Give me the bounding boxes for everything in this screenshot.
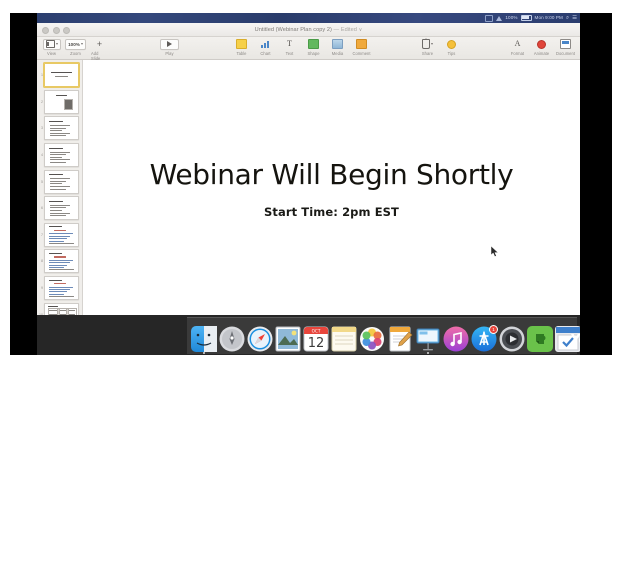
- view-icon: [46, 40, 55, 48]
- menubar-clock[interactable]: Mon 9:00 PM: [535, 13, 563, 23]
- navigator-slide-6[interactable]: 6: [37, 195, 82, 222]
- toolbar-play-group: Play: [161, 39, 178, 56]
- app-store-icon[interactable]: 1: [471, 326, 497, 352]
- share-icon: [422, 39, 430, 49]
- animate-label: Animate: [534, 51, 549, 56]
- comment-button[interactable]: Comment: [353, 39, 370, 56]
- table-icon: [236, 39, 247, 49]
- comment-icon: [356, 39, 367, 49]
- play-icon: [167, 41, 172, 47]
- youtube-you-text: You: [571, 333, 580, 348]
- svg-text:OCT: OCT: [312, 328, 321, 333]
- slide-thumbnail[interactable]: [44, 116, 79, 140]
- media-button[interactable]: Media: [329, 39, 346, 56]
- notes-icon[interactable]: [331, 326, 357, 352]
- title-separator: —: [334, 27, 340, 33]
- chevron-down-icon: [56, 43, 58, 45]
- toolbar-insert-group: Table Chart T Text Shape: [233, 39, 370, 56]
- format-button[interactable]: A Format: [509, 39, 526, 56]
- chevron-down-icon: [81, 43, 83, 45]
- slide-thumbnail[interactable]: [44, 276, 79, 300]
- battery-percent-label: 100%: [505, 13, 517, 23]
- slide-canvas-area: Webinar Will Begin Shortly Start Time: 2…: [83, 60, 580, 355]
- slide-navigator[interactable]: 1234567891011: [37, 60, 83, 355]
- macos-dock: OCT1210 You Tube: [37, 315, 580, 355]
- chart-button[interactable]: Chart: [257, 39, 274, 56]
- slide-thumbnail[interactable]: [44, 170, 79, 194]
- navigator-slide-3[interactable]: 3: [37, 115, 82, 142]
- shape-button[interactable]: Shape: [305, 39, 322, 56]
- safari-icon[interactable]: [247, 326, 273, 352]
- add-slide-button[interactable]: + Add Slide: [91, 39, 108, 61]
- calendar-icon[interactable]: OCT12: [303, 326, 329, 352]
- tips-label: Tips: [448, 51, 456, 56]
- toolbar-share-group: Share Tips: [419, 39, 460, 56]
- preview-icon[interactable]: [275, 326, 301, 352]
- chevron-down-icon: [431, 43, 433, 45]
- photos-icon[interactable]: [359, 326, 385, 352]
- menubar-status-items: 100% Mon 9:00 PM ⌕ ☰: [485, 13, 577, 23]
- slide-thumbnail[interactable]: [44, 63, 79, 87]
- document-icon: [560, 39, 571, 49]
- format-icon: A: [515, 40, 521, 48]
- slide-thumbnail[interactable]: [44, 223, 79, 247]
- format-label: Format: [511, 51, 524, 56]
- chart-icon: [261, 40, 270, 48]
- finder-icon[interactable]: [191, 326, 217, 352]
- slide-thumbnail[interactable]: [44, 90, 79, 114]
- tips-button[interactable]: Tips: [443, 39, 460, 56]
- notification-center-icon[interactable]: ☰: [572, 13, 577, 23]
- toolbar-left-group: View 100% Zoom + Add Slide: [43, 39, 108, 61]
- svg-text:12: 12: [308, 336, 325, 351]
- pages-icon[interactable]: [387, 326, 413, 352]
- navigator-slide-8[interactable]: 8: [37, 248, 82, 275]
- running-indicator: [203, 352, 205, 354]
- share-label: Share: [422, 51, 433, 56]
- slide-title-text[interactable]: Webinar Will Begin Shortly: [83, 158, 580, 191]
- chart-label: Chart: [260, 51, 270, 56]
- text-icon: T: [287, 40, 292, 48]
- chevron-down-icon[interactable]: ∨: [359, 27, 363, 33]
- letterbox-left: [10, 13, 37, 355]
- document-title: Untitled (Webinar Plan copy 2): [255, 27, 332, 33]
- quicktime-icon[interactable]: [499, 326, 525, 352]
- window-title: Untitled (Webinar Plan copy 2) — Edited …: [37, 27, 580, 33]
- play-button[interactable]: Play: [161, 39, 178, 56]
- navigator-slide-2[interactable]: 2: [37, 89, 82, 116]
- text-label: Text: [286, 51, 294, 56]
- navigator-slide-5[interactable]: 5: [37, 168, 82, 195]
- battery-icon[interactable]: [521, 15, 532, 22]
- zoom-value: 100%: [68, 42, 80, 47]
- window-titlebar: Untitled (Webinar Plan copy 2) — Edited …: [37, 23, 580, 37]
- plus-icon: +: [97, 40, 102, 49]
- dock-items: OCT1210: [187, 317, 577, 354]
- slide-thumbnail[interactable]: [44, 196, 79, 220]
- slide-thumbnail[interactable]: [44, 143, 79, 167]
- comment-label: Comment: [352, 51, 370, 56]
- animate-button[interactable]: Animate: [533, 39, 550, 56]
- share-button[interactable]: Share: [419, 39, 436, 56]
- edited-status: Edited: [341, 27, 357, 33]
- view-label: View: [47, 51, 56, 56]
- running-indicator: [427, 352, 429, 354]
- evernote-icon[interactable]: [527, 326, 553, 352]
- wifi-icon[interactable]: [496, 16, 502, 21]
- zoom-label: Zoom: [70, 51, 81, 56]
- shape-label: Shape: [307, 51, 319, 56]
- keynote-toolbar: View 100% Zoom + Add Slide Play: [37, 37, 580, 60]
- table-label: Table: [236, 51, 246, 56]
- slide-thumbnail[interactable]: [44, 249, 79, 273]
- play-label: Play: [165, 51, 173, 56]
- keynote-icon[interactable]: [415, 326, 441, 352]
- slide-subtitle-text[interactable]: Start Time: 2pm EST: [83, 205, 580, 219]
- add-slide-label: Add Slide: [91, 51, 108, 61]
- video-player-frame: 100% Mon 9:00 PM ⌕ ☰ Untitled (Webinar P…: [10, 13, 612, 355]
- launchpad-icon[interactable]: [219, 326, 245, 352]
- itunes-icon[interactable]: [443, 326, 469, 352]
- mouse-pointer: [491, 246, 499, 257]
- window-body: 1234567891011 Webinar Will Begin Shortly…: [37, 60, 580, 355]
- document-button[interactable]: Document: [557, 39, 574, 56]
- toolbar-inspector-group: A Format Animate Document: [509, 39, 574, 56]
- animate-icon: [537, 40, 546, 49]
- airplay-icon[interactable]: [485, 15, 493, 22]
- text-button[interactable]: T Text: [281, 39, 298, 56]
- navigator-slide-7[interactable]: 7: [37, 222, 82, 249]
- table-button[interactable]: Table: [233, 39, 250, 56]
- spotlight-icon[interactable]: ⌕: [566, 13, 569, 23]
- youtube-watermark: You Tube: [571, 333, 580, 348]
- desktop-screen-capture: 100% Mon 9:00 PM ⌕ ☰ Untitled (Webinar P…: [37, 13, 580, 355]
- view-button[interactable]: View: [43, 39, 60, 61]
- shape-icon: [308, 39, 319, 49]
- media-icon: [332, 39, 343, 49]
- document-label: Document: [556, 51, 575, 56]
- media-label: Media: [332, 51, 343, 56]
- slide-canvas[interactable]: Webinar Will Begin Shortly Start Time: 2…: [83, 60, 580, 355]
- navigator-slide-1[interactable]: 1: [37, 62, 82, 89]
- letterbox-right: [580, 13, 612, 355]
- navigator-slide-9[interactable]: 9: [37, 275, 82, 302]
- badge-count: 1: [489, 325, 498, 334]
- tips-icon: [447, 40, 456, 49]
- macos-menubar: 100% Mon 9:00 PM ⌕ ☰: [37, 13, 580, 23]
- navigator-slide-4[interactable]: 4: [37, 142, 82, 169]
- zoom-button[interactable]: 100% Zoom: [67, 39, 84, 61]
- page-root: 100% Mon 9:00 PM ⌕ ☰ Untitled (Webinar P…: [0, 0, 624, 588]
